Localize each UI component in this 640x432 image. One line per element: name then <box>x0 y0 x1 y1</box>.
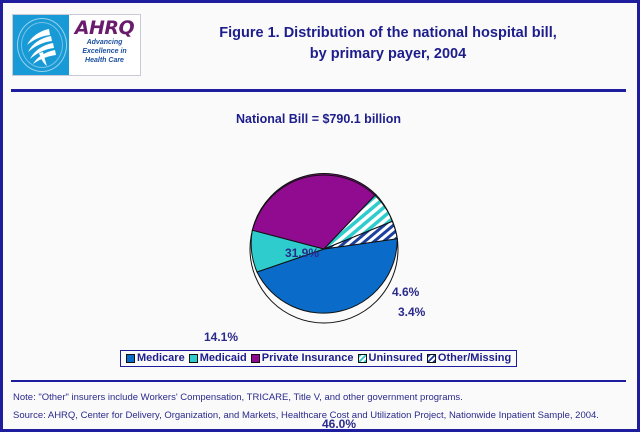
pie-value-label-other-missing: 3.4% <box>398 305 425 319</box>
figure-title-line1: Figure 1. Distribution of the national h… <box>153 23 623 44</box>
ahrq-tagline-line3: Health Care <box>69 57 140 65</box>
figure-title-line2: by primary payer, 2004 <box>153 44 623 65</box>
ahrq-wordmark: AHRQ Advancing Excellence in Health Care <box>69 15 140 75</box>
header-divider <box>11 89 626 92</box>
figure-container: AHRQ Advancing Excellence in Health Care… <box>0 0 640 432</box>
legend-swatch-medicare <box>126 354 135 363</box>
figure-header: AHRQ Advancing Excellence in Health Care… <box>3 3 637 87</box>
legend-label-uninsured: Uninsured <box>369 353 423 364</box>
legend-item-medicaid: Medicaid <box>189 353 247 364</box>
legend-label-medicaid: Medicaid <box>200 353 247 364</box>
chart-subtitle: National Bill = $790.1 billion <box>11 112 626 126</box>
footer-divider <box>11 380 626 382</box>
legend-item-medicare: Medicare <box>126 353 185 364</box>
hhs-eagle-seal-icon <box>13 15 69 75</box>
legend-label-medicare: Medicare <box>137 353 185 364</box>
legend-item-private-insurance: Private Insurance <box>251 353 354 364</box>
legend-swatch-uninsured <box>358 354 367 363</box>
pie-value-label-private-insurance: 31.9% <box>285 246 319 260</box>
legend-item-other-missing: Other/Missing <box>427 353 511 364</box>
chart-legend: Medicare Medicaid Private Insurance Unin… <box>120 350 517 367</box>
footnotes: Note: "Other" insurers include Workers' … <box>13 389 633 425</box>
ahrq-logo: AHRQ Advancing Excellence in Health Care <box>12 14 141 76</box>
ahrq-acronym: AHRQ <box>69 18 140 38</box>
pie-value-label-medicaid: 14.1% <box>204 330 238 344</box>
ahrq-tagline-line1: Advancing <box>69 39 140 47</box>
pie-value-label-uninsured: 4.6% <box>392 285 419 299</box>
legend-label-private-insurance: Private Insurance <box>262 353 354 364</box>
legend-item-uninsured: Uninsured <box>358 353 423 364</box>
ahrq-tagline-line2: Excellence in <box>69 48 140 56</box>
legend-swatch-private-insurance <box>251 354 260 363</box>
footnote-source: Source: AHRQ, Center for Delivery, Organ… <box>13 407 633 425</box>
pie-chart <box>248 173 400 325</box>
legend-label-other-missing: Other/Missing <box>438 353 511 364</box>
legend-swatch-medicaid <box>189 354 198 363</box>
chart-panel: National Bill = $790.1 billion <box>11 96 626 371</box>
figure-title: Figure 1. Distribution of the national h… <box>153 23 623 65</box>
footnote-note: Note: "Other" insurers include Workers' … <box>13 389 633 407</box>
legend-swatch-other-missing <box>427 354 436 363</box>
